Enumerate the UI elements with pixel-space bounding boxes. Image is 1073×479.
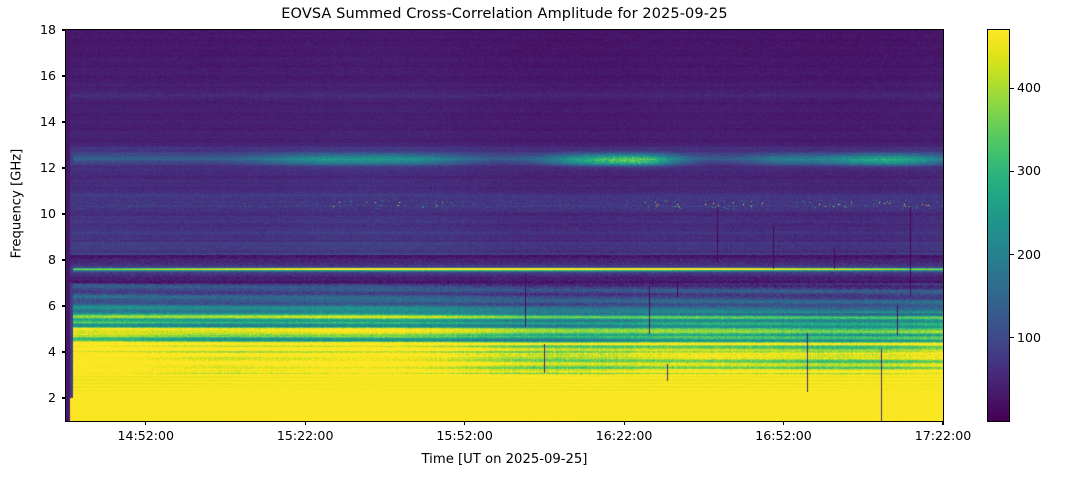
y-axis-tick-label: 2 — [0, 390, 56, 405]
y-axis-tick-label: 4 — [0, 344, 56, 359]
x-axis-tick-label: 14:52:00 — [117, 428, 174, 443]
y-axis-label: Frequency [GHz] — [10, 104, 25, 304]
x-axis-tick-label: 15:52:00 — [436, 428, 493, 443]
colorbar-tick-label: 100 — [1017, 330, 1041, 345]
page-title: EOVSA Summed Cross-Correlation Amplitude… — [0, 6, 1009, 22]
colorbar-tick-mark — [1010, 171, 1014, 172]
y-axis-tick-mark — [62, 397, 66, 398]
y-axis-tick-mark — [62, 167, 66, 168]
dynamic-spectrum-heatmap[interactable] — [66, 30, 943, 421]
y-axis-tick-label: 8 — [0, 252, 56, 267]
colorbar-tick-label: 200 — [1017, 247, 1041, 262]
colorbar-tick-mark — [1010, 337, 1014, 338]
x-axis-tick-label: 17:22:00 — [915, 428, 972, 443]
y-axis-tick-mark — [62, 29, 66, 30]
figure-canvas: EOVSA Summed Cross-Correlation Amplitude… — [0, 0, 1073, 479]
y-axis-tick-label: 14 — [0, 114, 56, 129]
y-axis-tick-label: 18 — [0, 22, 56, 37]
dynamic-spectrum-axes[interactable] — [65, 29, 944, 422]
y-axis-tick-mark — [62, 305, 66, 306]
colorbar-tick-label: 400 — [1017, 80, 1041, 95]
x-axis-tick-mark — [783, 421, 784, 425]
x-axis-tick-mark — [624, 421, 625, 425]
y-axis-tick-mark — [62, 259, 66, 260]
x-axis-tick-label: 16:52:00 — [755, 428, 812, 443]
y-axis-tick-label: 16 — [0, 68, 56, 83]
x-axis-tick-mark — [305, 421, 306, 425]
y-axis-tick-mark — [62, 75, 66, 76]
x-axis-tick-label: 16:22:00 — [596, 428, 653, 443]
colorbar-tick-label: 300 — [1017, 163, 1041, 178]
colorbar-tick-mark — [1010, 88, 1014, 89]
colorbar-tick-mark — [1010, 254, 1014, 255]
y-axis-tick-mark — [62, 213, 66, 214]
colorbar-gradient — [988, 30, 1009, 421]
colorbar[interactable] — [987, 29, 1010, 422]
x-axis-tick-mark — [942, 421, 943, 425]
y-axis-tick-label: 10 — [0, 206, 56, 221]
x-axis-tick-mark — [145, 421, 146, 425]
x-axis-label: Time [UT on 2025-09-25] — [66, 452, 943, 467]
y-axis-tick-mark — [62, 351, 66, 352]
y-axis-tick-label: 12 — [0, 160, 56, 175]
y-axis-tick-label: 6 — [0, 298, 56, 313]
x-axis-tick-label: 15:22:00 — [277, 428, 334, 443]
y-axis-tick-mark — [62, 121, 66, 122]
x-axis-tick-mark — [464, 421, 465, 425]
